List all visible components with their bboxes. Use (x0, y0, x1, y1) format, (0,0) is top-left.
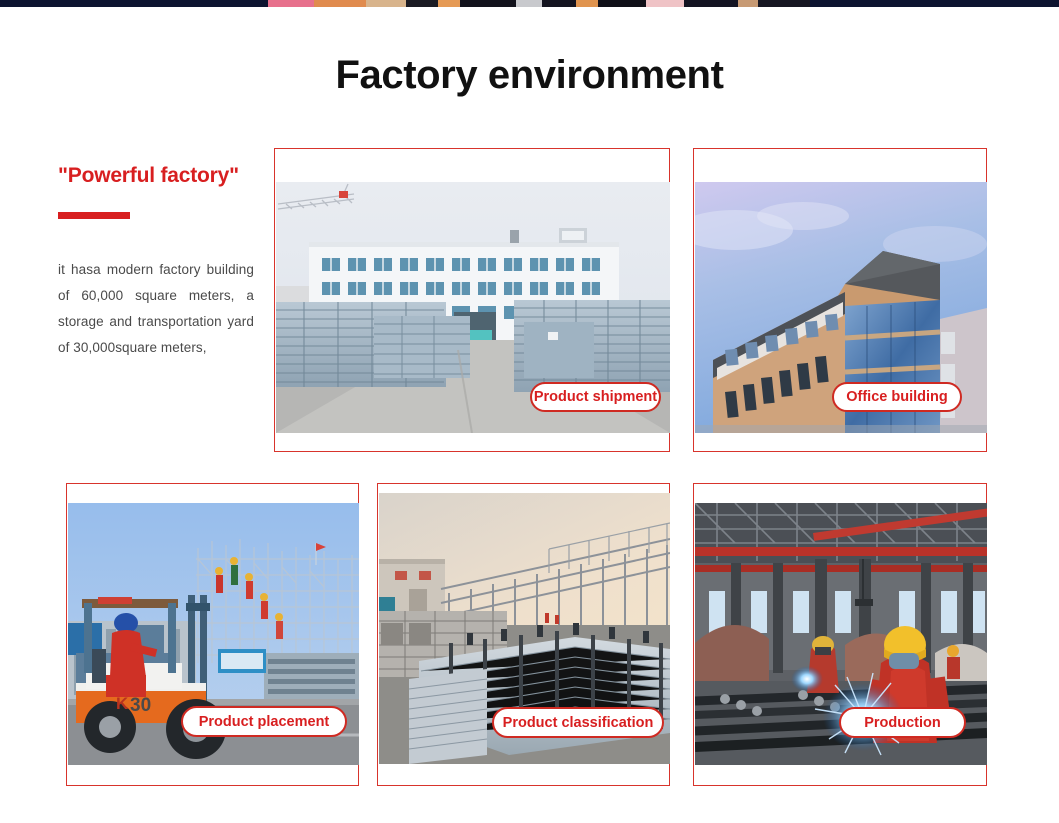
badge-product-placement[interactable]: Product placement (181, 706, 347, 737)
badge-product-classification[interactable]: Product classification (492, 707, 664, 738)
badge-office-building[interactable]: Office building (832, 382, 962, 412)
intro-body-text: it hasa modern factory building of 60,00… (58, 257, 254, 361)
svg-text:30: 30 (130, 695, 151, 716)
intro-heading: "Powerful factory" (58, 163, 268, 189)
card-product-shipment[interactable]: Product shipment (274, 148, 670, 452)
intro-block: "Powerful factory" it hasa modern factor… (58, 163, 268, 361)
card-product-placement[interactable]: K 30 Product placement (66, 483, 359, 786)
card-office-building[interactable]: Office building (693, 148, 987, 452)
intro-accent-rule (58, 212, 130, 219)
page-title: Factory environment (0, 51, 1059, 99)
cropped-banner-strip (0, 0, 1059, 7)
badge-production[interactable]: Production (839, 707, 966, 738)
svg-text:K: K (116, 694, 129, 713)
factory-environment-page: Factory environment "Powerful factory" i… (0, 0, 1059, 823)
card-product-classification[interactable]: Product classification (377, 483, 670, 786)
card-production[interactable]: Production (693, 483, 987, 786)
badge-product-shipment[interactable]: Product shipment (530, 382, 661, 412)
